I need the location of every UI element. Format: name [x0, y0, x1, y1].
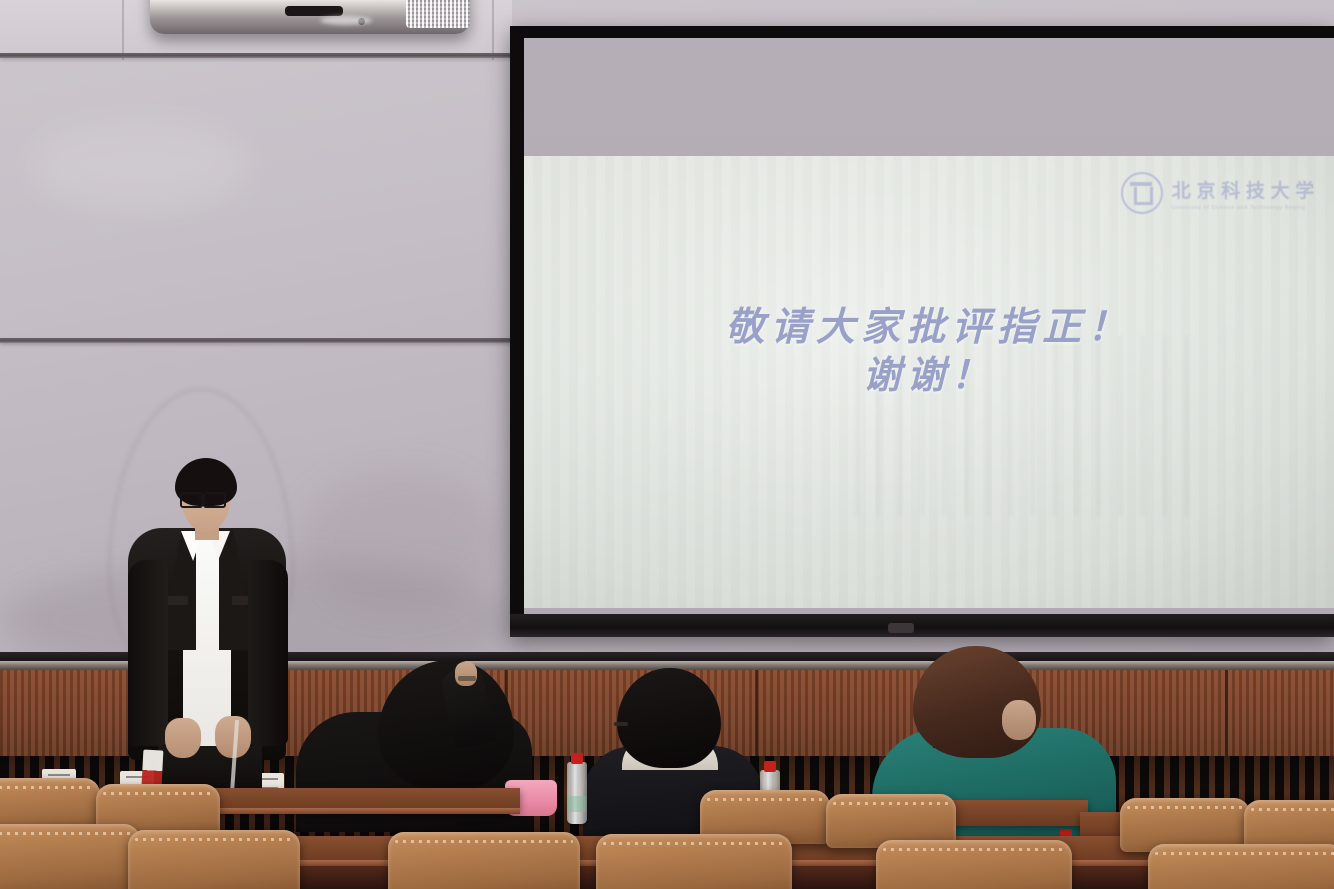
chair-front[interactable] — [128, 830, 300, 889]
projection-screen-frame: 北京科技大学 University of Science and Technol… — [510, 26, 1334, 637]
slide-line-1: 敬请大家批评指正！ — [524, 304, 1334, 352]
chair-front[interactable] — [388, 832, 580, 889]
attendee-2-hair — [617, 668, 721, 768]
attendee-3-ear-cheek — [1002, 700, 1036, 740]
wall-seam — [122, 0, 124, 60]
wall-seam — [492, 0, 494, 60]
attendee-1-wristband — [458, 676, 476, 681]
university-seal-icon — [1121, 172, 1163, 214]
projection-screen-surface: 北京科技大学 University of Science and Technol… — [524, 38, 1334, 626]
slide-text-block: 敬请大家批评指正！ 谢谢！ — [524, 304, 1334, 402]
screen-pull-knob[interactable] — [888, 623, 914, 633]
eyeglasses-temple-icon — [614, 722, 628, 726]
university-name-en: University of Science and Technology Bei… — [1172, 205, 1320, 211]
university-logo: 北京科技大学 University of Science and Technol… — [1121, 172, 1320, 214]
chair-front[interactable] — [0, 824, 140, 889]
presenter-sleeve-left — [128, 560, 168, 746]
projected-slide: 北京科技大学 University of Science and Technol… — [524, 156, 1334, 608]
wall-highlight — [30, 120, 250, 210]
presenter-hand-left — [165, 718, 201, 758]
slide-line-2: 谢谢！ — [524, 352, 1334, 401]
presenter-sleeve-right — [248, 560, 288, 746]
wood-panel-seam — [1225, 670, 1228, 756]
chair-front[interactable] — [1148, 844, 1334, 889]
chair-front[interactable] — [596, 834, 792, 889]
wood-panel-seam — [755, 670, 758, 756]
water-bottle[interactable] — [567, 762, 587, 824]
chair-front[interactable] — [876, 840, 1072, 889]
lecture-hall-photo: 北京科技大学 University of Science and Technol… — [0, 0, 1334, 889]
attendee-1-hand — [455, 662, 477, 686]
blackboard-rail-lower — [0, 338, 516, 343]
screen-weighted-bar — [510, 614, 1334, 637]
blackboard-rail-upper — [0, 53, 516, 58]
projector-reflection — [320, 16, 372, 25]
projector-lens-icon — [285, 6, 343, 16]
university-name-cn: 北京科技大学 — [1172, 176, 1320, 203]
eyeglasses-icon — [180, 492, 232, 504]
projector-vent-grille-icon — [406, 0, 470, 28]
